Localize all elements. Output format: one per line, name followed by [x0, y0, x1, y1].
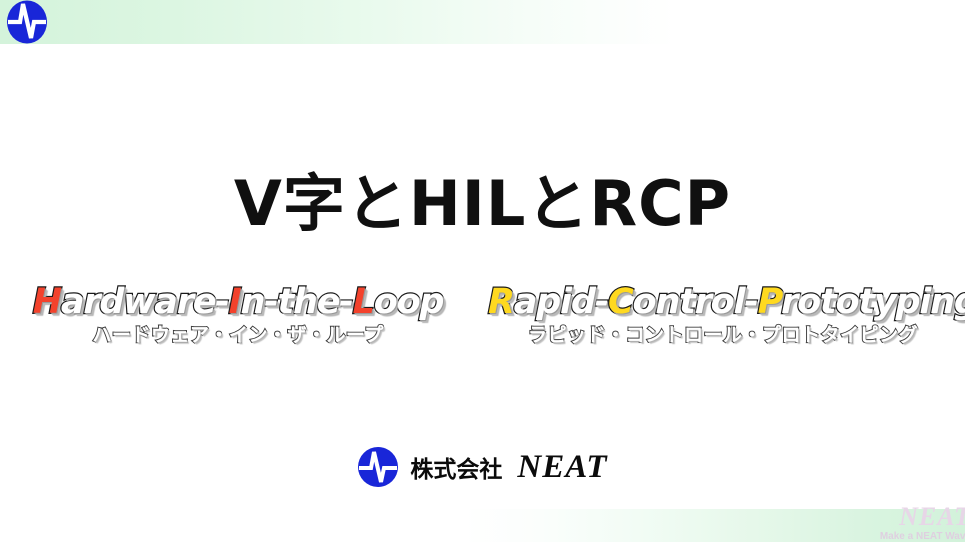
- bottom-banner: NEAT Make a NEAT Wave: [0, 509, 965, 542]
- wordart-left-seg-0: H: [33, 282, 61, 322]
- wordart-right-main: Rapid-Control-Prototyping: [488, 282, 958, 322]
- wordart-left-seg-3: n-the-: [240, 282, 352, 322]
- wordart-right-seg-0: R: [488, 282, 514, 322]
- company-signature: 株式会社 NEAT: [0, 446, 965, 488]
- watermark-tagline: Make a NEAT Wave: [880, 532, 965, 542]
- wordart-left-seg-5: oop: [374, 282, 444, 322]
- neat-pulse-logo-icon: [4, 0, 50, 44]
- wordart-right-seg-5: rototyping: [781, 282, 965, 322]
- top-banner: [0, 0, 965, 44]
- wordart-left-seg-4: L: [353, 282, 374, 322]
- watermark-name: NEAT: [880, 504, 965, 530]
- wordart-left-subtitle: ハードウェア・イン・ザ・ループ: [18, 323, 458, 347]
- wordart-row: Hardware-In-the-Loop ハードウェア・イン・ザ・ループ Rap…: [0, 282, 965, 362]
- wordart-right-seg-3: ontrol-: [633, 282, 758, 322]
- wordart-right-seg-2: C: [608, 282, 633, 322]
- wordart-right-subtitle: ラピッド・コントロール・プロトタイピング: [488, 323, 958, 347]
- slide-title: V字とHILとRCP: [0, 153, 965, 243]
- wordart-right-seg-1: apid-: [514, 282, 608, 322]
- company-prefix: 株式会社: [410, 450, 502, 484]
- watermark: NEAT Make a NEAT Wave: [880, 504, 965, 542]
- wordart-hardware-in-the-loop: Hardware-In-the-Loop ハードウェア・イン・ザ・ループ: [18, 282, 458, 347]
- company-name: NEAT: [517, 449, 607, 486]
- wordart-left-main: Hardware-In-the-Loop: [18, 282, 458, 322]
- neat-pulse-logo-icon-footer: [357, 446, 399, 488]
- wordart-rapid-control-prototyping: Rapid-Control-Prototyping ラピッド・コントロール・プロ…: [488, 282, 958, 347]
- wordart-right-seg-4: P: [758, 282, 781, 322]
- presentation-slide: V字とHILとRCP Hardware-In-the-Loop ハードウェア・イ…: [0, 0, 965, 542]
- wordart-left-seg-2: I: [229, 282, 241, 322]
- wordart-left-seg-1: ardware-: [61, 282, 229, 322]
